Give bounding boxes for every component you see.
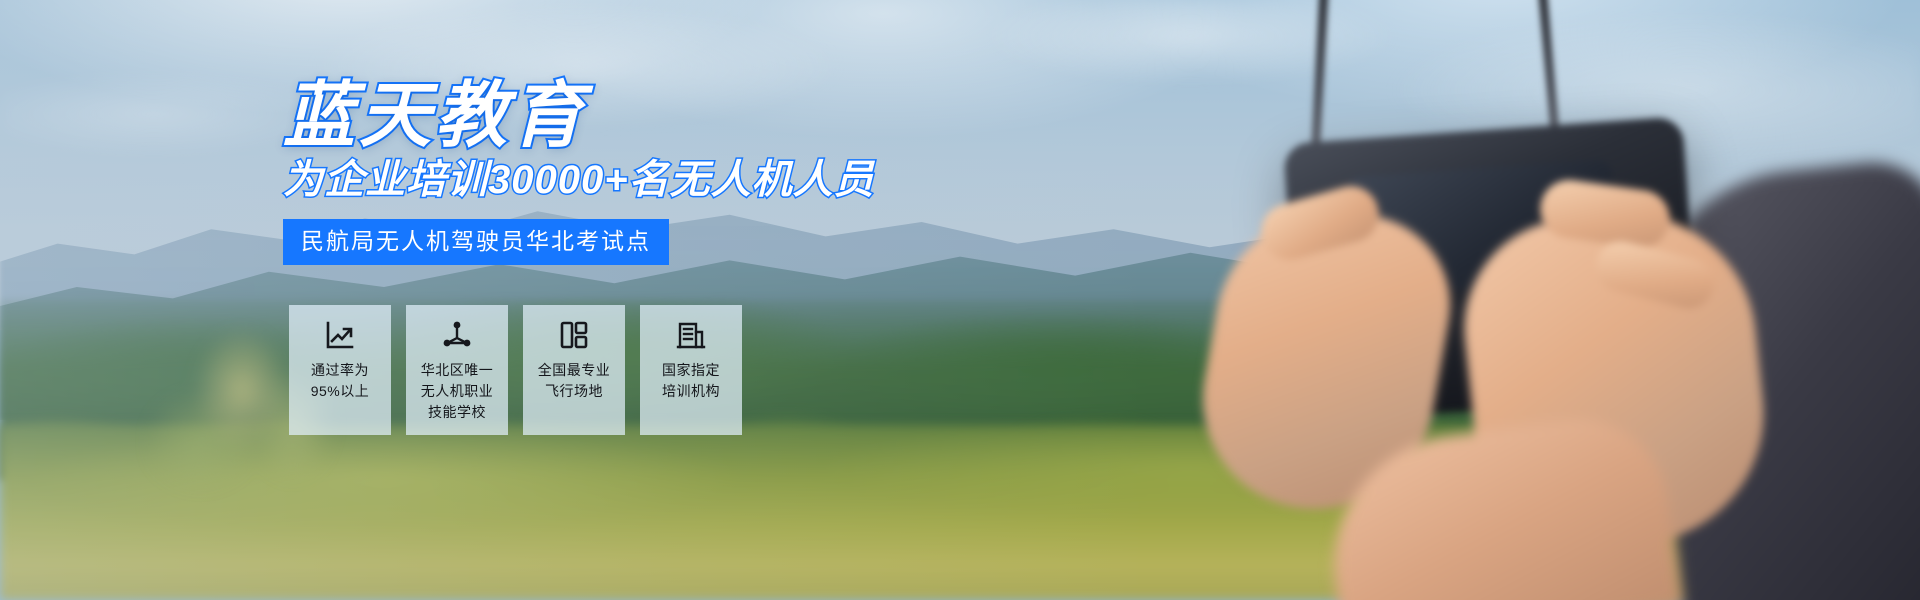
- banner-content: 蓝天教育 为企业培训30000+名无人机人员 民航局无人机驾驶员华北考试点 通过…: [0, 0, 1920, 600]
- page-title: 蓝天教育: [283, 80, 587, 152]
- feature-card-label: 通过率为 95%以上: [311, 360, 370, 402]
- feature-card-label: 全国最专业 飞行场地: [538, 360, 611, 402]
- trending-chart-icon: [324, 319, 356, 351]
- feature-card-vocational-school[interactable]: 华北区唯一 无人机职业 技能学校: [406, 305, 508, 435]
- feature-card-national-institution[interactable]: 国家指定 培训机构: [640, 305, 742, 435]
- banner-subtitle: 为企业培训30000+名无人机人员: [283, 160, 875, 200]
- feature-card-list: 通过率为 95%以上 华北区唯一 无人机职业 技能学校: [289, 305, 742, 435]
- feature-card-flight-field[interactable]: 全国最专业 飞行场地: [523, 305, 625, 435]
- status-badge: 民航局无人机驾驶员华北考试点: [283, 219, 669, 265]
- building-icon: [675, 319, 707, 351]
- layout-grid-icon: [558, 319, 590, 351]
- feature-card-label: 国家指定 培训机构: [662, 360, 720, 402]
- hero-banner: 蓝天教育 为企业培训30000+名无人机人员 民航局无人机驾驶员华北考试点 通过…: [0, 0, 1920, 600]
- network-nodes-icon: [441, 319, 473, 351]
- feature-card-label: 华北区唯一 无人机职业 技能学校: [421, 360, 494, 423]
- feature-card-pass-rate[interactable]: 通过率为 95%以上: [289, 305, 391, 435]
